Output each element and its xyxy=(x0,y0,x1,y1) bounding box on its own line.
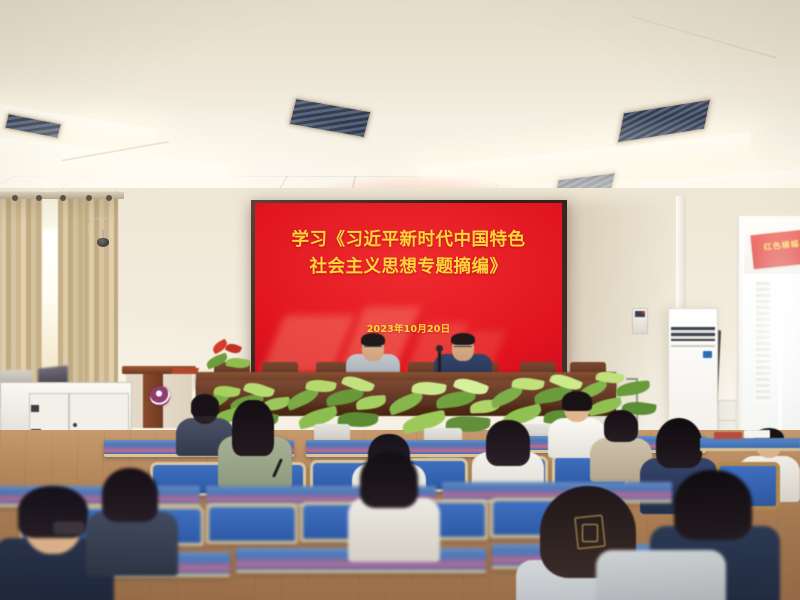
ac-grille xyxy=(671,327,715,341)
window-blinds[interactable] xyxy=(756,282,770,402)
audience-person xyxy=(218,400,292,484)
auditorium-chair[interactable] xyxy=(206,504,298,544)
window-mullion xyxy=(742,274,800,280)
audience-person-foreground xyxy=(86,468,172,560)
speaker-left-hair xyxy=(361,333,385,346)
ac-brand-badge xyxy=(703,351,712,358)
security-camera-icon xyxy=(97,230,109,246)
led-title-line-2: 社会主义思想专题摘编》 xyxy=(255,254,562,281)
notebook-on-desk xyxy=(714,432,742,439)
ac-wall-controller[interactable] xyxy=(632,308,648,334)
window-transom: 红色横幅 xyxy=(742,220,800,278)
speaker-right-hair xyxy=(451,333,475,345)
led-screen-title: 学习《习近平新时代中国特色 社会主义思想专题摘编》 xyxy=(255,227,562,280)
ceiling xyxy=(0,0,800,215)
side-table xyxy=(700,438,800,451)
banner-text: 红色横幅 xyxy=(763,238,800,253)
glasses-icon xyxy=(54,522,84,534)
led-title-line-1: 学习《习近平新时代中国特色 xyxy=(255,227,562,254)
audience-person-foreground xyxy=(596,540,716,600)
ceiling-air-vent xyxy=(289,98,372,138)
podium-emblem-icon xyxy=(150,386,170,406)
cabinet-equipment-slot xyxy=(31,405,39,412)
curtain-rail xyxy=(0,192,124,199)
speaker-right-glasses-icon xyxy=(454,346,472,351)
ceiling-air-vent xyxy=(617,99,711,144)
led-display-wall[interactable]: 学习《习近平新时代中国特色 社会主义思想专题摘编》 2023年10月20日 xyxy=(255,203,562,384)
photograph-scene: 学习《习近平新时代中国特色 社会主义思想专题摘编》 2023年10月20日 红色… xyxy=(0,0,800,600)
led-screen-date: 2023年10月20日 xyxy=(255,321,562,335)
cabinet-handle[interactable] xyxy=(73,423,77,427)
paper-on-desk xyxy=(744,430,770,438)
flower-plant xyxy=(206,342,250,382)
audience-person-foreground xyxy=(348,452,434,548)
ac-seam xyxy=(671,345,715,347)
ceiling-conduit xyxy=(633,15,778,58)
outdoor-red-banner: 红色横幅 xyxy=(750,229,800,269)
speaker-left-glasses-icon xyxy=(364,346,382,351)
